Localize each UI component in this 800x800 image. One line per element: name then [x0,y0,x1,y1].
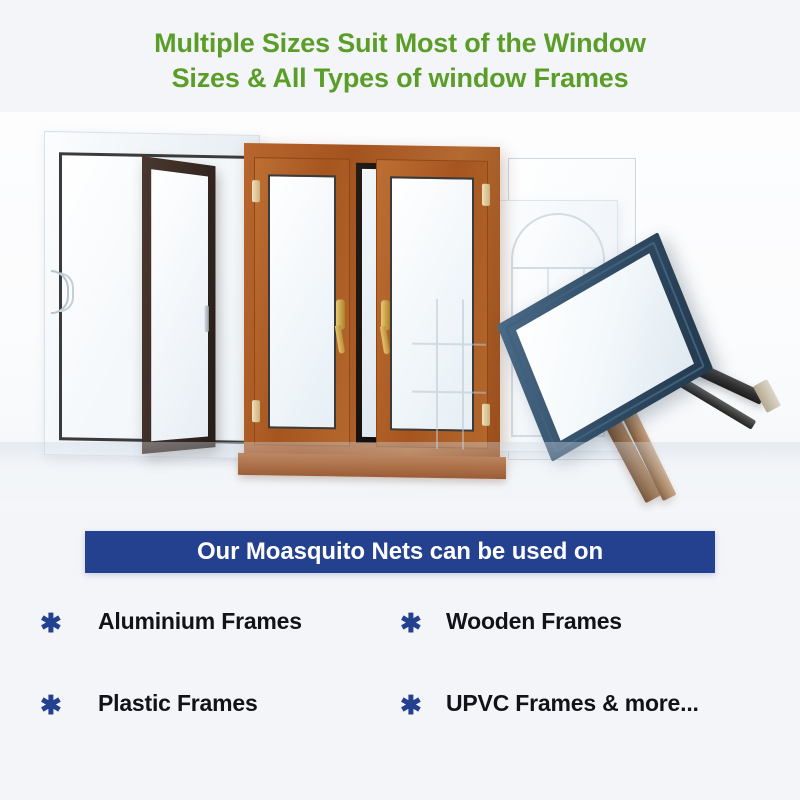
asterisk-icon: ✱ [400,606,426,636]
background-muntin-grid [412,299,486,450]
asterisk-icon: ✱ [40,688,66,718]
tan-wooden-frame-end-cap [753,379,781,413]
list-item-wooden-frames: ✱ Wooden Frames [400,606,770,636]
dark-casement-open-handle [205,305,209,332]
list-item-upvc-frames: ✱ UPVC Frames & more... [400,688,770,718]
list-item-aluminium-frames: ✱ Aluminium Frames [40,606,400,636]
arched-window-top-sash [511,213,605,275]
product-photo-scene [0,112,800,512]
asterisk-icon: ✱ [400,688,426,718]
headline-line-1: Multiple Sizes Suit Most of the Window [60,26,740,61]
list-item-label: UPVC Frames & more... [446,690,699,717]
list-item-label: Aluminium Frames [98,608,302,635]
hinge-left-bottom [252,400,260,422]
brass-handle-left [336,299,345,329]
list-item-label: Wooden Frames [446,608,622,635]
hinge-right-bottom [482,404,490,426]
section-banner-text: Our Moasquito Nets can be used on [197,538,603,566]
dark-casement-open-glass [151,169,208,441]
frame-types-list: ✱ Aluminium Frames ✱ Wooden Frames ✱ Pla… [40,606,770,718]
asterisk-icon: ✱ [40,606,66,636]
hinge-left-top [252,180,260,202]
hinge-right-top [482,184,490,206]
teak-wooden-window [244,143,500,465]
wooden-window-left-glass [268,174,336,429]
wooden-window-right-glass [390,176,474,431]
product-photo [0,112,800,512]
dark-casement-open-leaf [142,156,215,454]
list-item-plastic-frames: ✱ Plastic Frames [40,688,400,718]
promo-page: Multiple Sizes Suit Most of the Window S… [0,0,800,800]
page-title: Multiple Sizes Suit Most of the Window S… [60,26,740,95]
brass-handle-right [381,300,390,330]
wooden-window-right-sash [376,159,488,449]
section-banner: Our Moasquito Nets can be used on [85,531,715,573]
headline-line-2: Sizes & All Types of window Frames [60,61,740,96]
list-item-label: Plastic Frames [98,690,258,717]
floor-reflection [0,442,800,512]
wooden-window-left-sash [254,157,350,447]
